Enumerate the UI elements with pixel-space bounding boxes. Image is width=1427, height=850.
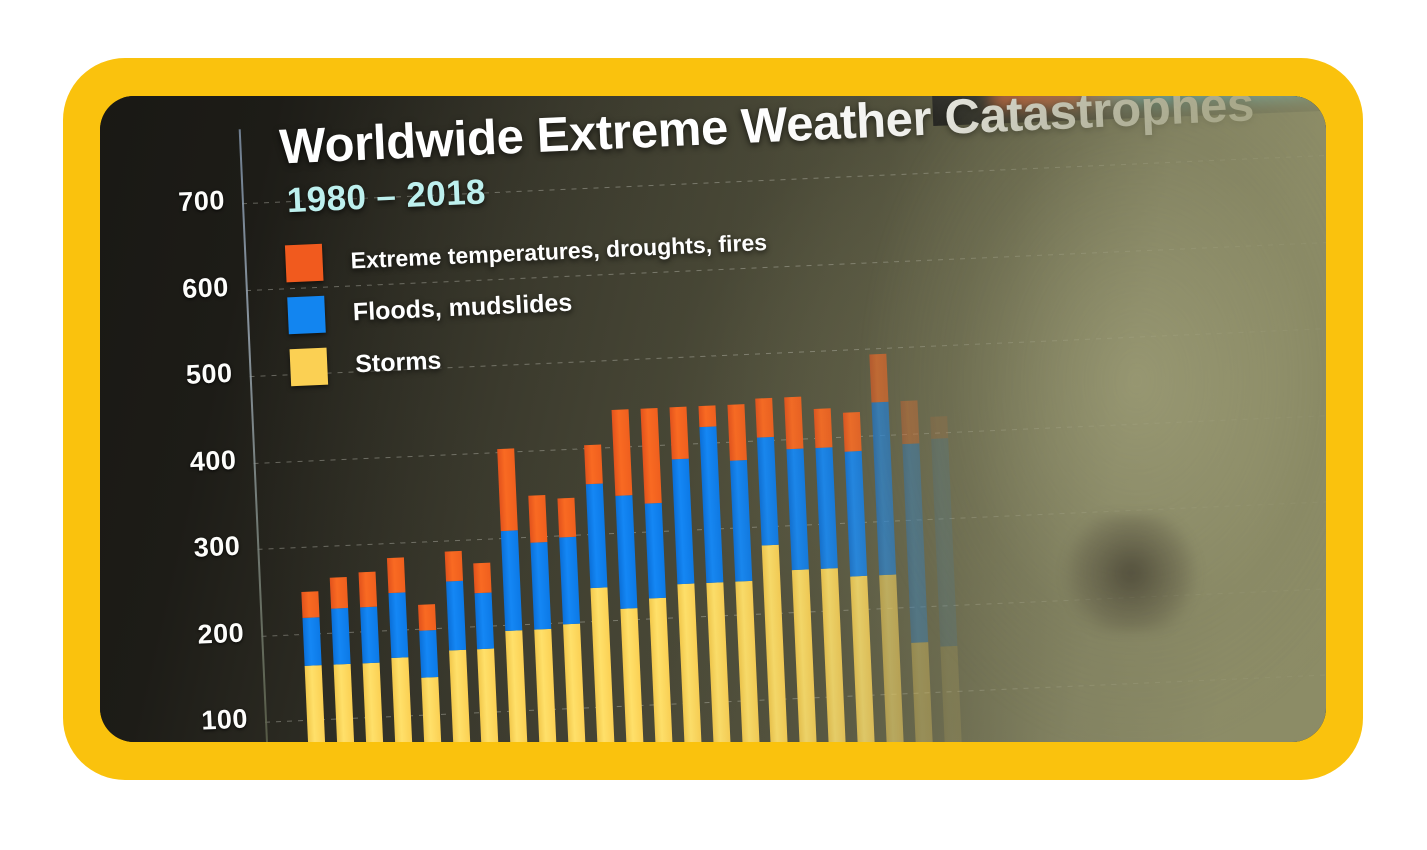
segment-storms [649,598,674,742]
segment-heat [444,551,462,582]
segment-storms [449,650,472,742]
segment-heat [756,398,775,438]
segment-floods [757,437,779,546]
segment-floods [615,495,637,608]
segment-heat [584,445,603,485]
yellow-photo-frame: 700600500400300200100 Worldwide Extreme … [63,58,1363,780]
segment-storms [620,608,644,742]
segment-heat [558,498,577,538]
segment-heat [418,604,436,631]
segment-storms [563,623,587,742]
segment-floods [446,581,466,651]
segment-floods [360,606,379,663]
segment-heat [387,558,406,593]
segment-heat [727,404,746,461]
segment-heat [843,412,862,452]
y-tick-label: 100 [127,704,248,740]
segment-storms [590,587,615,742]
segment-floods [531,542,552,629]
segment-storms [677,584,702,742]
y-tick-label: 600 [108,271,229,307]
segment-heat [301,592,319,619]
screenshot-root: 700600500400300200100 Worldwide Extreme … [0,0,1427,850]
segment-storms [850,576,875,742]
segment-floods [816,447,838,569]
segment-storms [735,581,760,742]
segment-storms [391,657,414,742]
segment-floods [845,451,868,577]
segment-floods [388,592,408,658]
segment-heat [611,409,632,496]
segment-storms [305,665,327,742]
segment-heat [814,409,833,449]
segment-heat [784,397,803,450]
segment-heat [930,416,948,438]
segment-floods [671,458,694,584]
segment-heat [528,495,547,543]
y-tick-label: 500 [112,358,233,394]
chart-bars [237,96,1326,742]
segment-heat [497,449,518,532]
segment-storms [506,630,530,742]
segment-floods [931,438,957,646]
segment-storms [821,568,847,742]
chart-plane: 700600500400300200100 Worldwide Extreme … [100,96,1326,742]
segment-storms [911,642,933,742]
segment-floods [586,484,608,588]
segment-floods [303,618,322,666]
y-tick-label: 300 [120,531,241,567]
segment-heat [358,572,377,607]
y-tick-label: 200 [124,617,245,653]
segment-floods [331,608,350,665]
segment-floods [699,427,723,583]
segment-floods [902,444,928,643]
segment-storms [534,629,558,742]
segment-floods [559,537,580,624]
segment-heat [698,405,716,427]
segment-storms [421,677,443,742]
y-tick-label: 700 [104,185,225,221]
segment-storms [706,582,731,742]
segment-floods [475,593,494,650]
segment-floods [419,630,438,678]
segment-floods [645,503,666,599]
segment-storms [477,649,500,742]
segment-storms [792,570,818,742]
segment-storms [762,545,789,742]
segment-storms [879,575,904,742]
segment-floods [729,460,751,582]
segment-heat [869,354,888,402]
photo-viewport: 700600500400300200100 Worldwide Extreme … [100,96,1326,742]
segment-storms [333,664,355,742]
segment-heat [474,562,492,593]
segment-storms [362,662,384,742]
segment-floods [787,449,809,571]
segment-heat [640,408,661,504]
segment-heat [669,406,688,459]
segment-heat [900,400,919,444]
photographed-presentation-screen: 700600500400300200100 Worldwide Extreme … [100,96,1326,742]
segment-floods [501,531,522,631]
y-tick-label: 400 [116,444,237,480]
segment-storms [940,645,962,742]
segment-heat [330,577,348,608]
segment-floods [871,402,896,576]
